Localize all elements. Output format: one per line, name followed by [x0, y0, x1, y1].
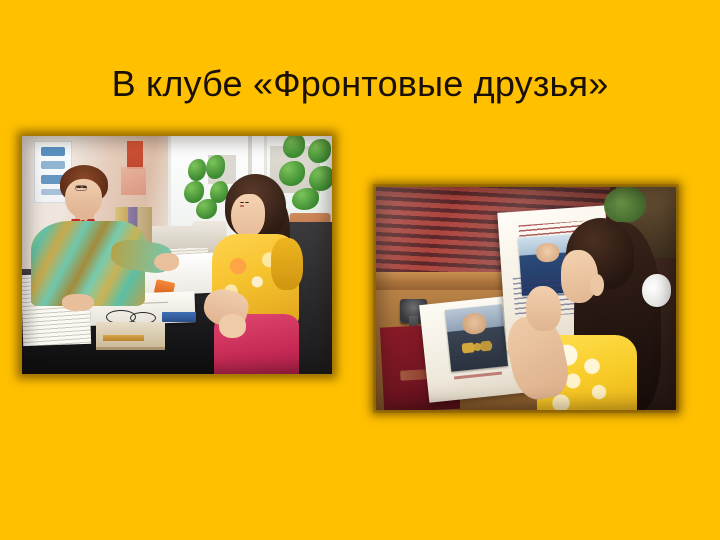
- desk-organizer-box: [96, 322, 164, 351]
- girl-figure-left: [208, 174, 313, 374]
- girl-sleeve: [271, 238, 303, 290]
- girl-hands: [219, 314, 246, 338]
- librarian-figure: [28, 165, 171, 313]
- blue-book: [162, 312, 196, 322]
- girl-face: [231, 194, 265, 238]
- presentation-slide: В клубе «Фронтовые друзья»: [0, 0, 720, 540]
- veteran-portrait: [445, 305, 508, 373]
- page-title: В клубе «Фронтовые друзья»: [0, 62, 720, 106]
- girl-mouth: [240, 205, 244, 206]
- girl-white-hair-bow: [642, 274, 671, 306]
- right-photo-scene: [376, 187, 676, 410]
- girl-eye-right: [245, 202, 249, 204]
- plant-leaf: [308, 139, 332, 164]
- girl-hand: [526, 286, 560, 330]
- librarian-hand-2: [62, 294, 93, 310]
- plant-leaf: [283, 136, 305, 158]
- photo-girl-reading-memory-book[interactable]: [376, 187, 676, 410]
- girl-figure-right: [550, 218, 676, 410]
- librarian-hand: [154, 253, 180, 271]
- photo-librarian-and-girl-at-desk[interactable]: [22, 136, 332, 374]
- girl-eye-left: [240, 202, 244, 204]
- librarian-glasses: [75, 185, 87, 191]
- plant-leaf: [188, 159, 206, 181]
- left-photo-scene: [22, 136, 332, 374]
- poster-band-1: [41, 147, 65, 156]
